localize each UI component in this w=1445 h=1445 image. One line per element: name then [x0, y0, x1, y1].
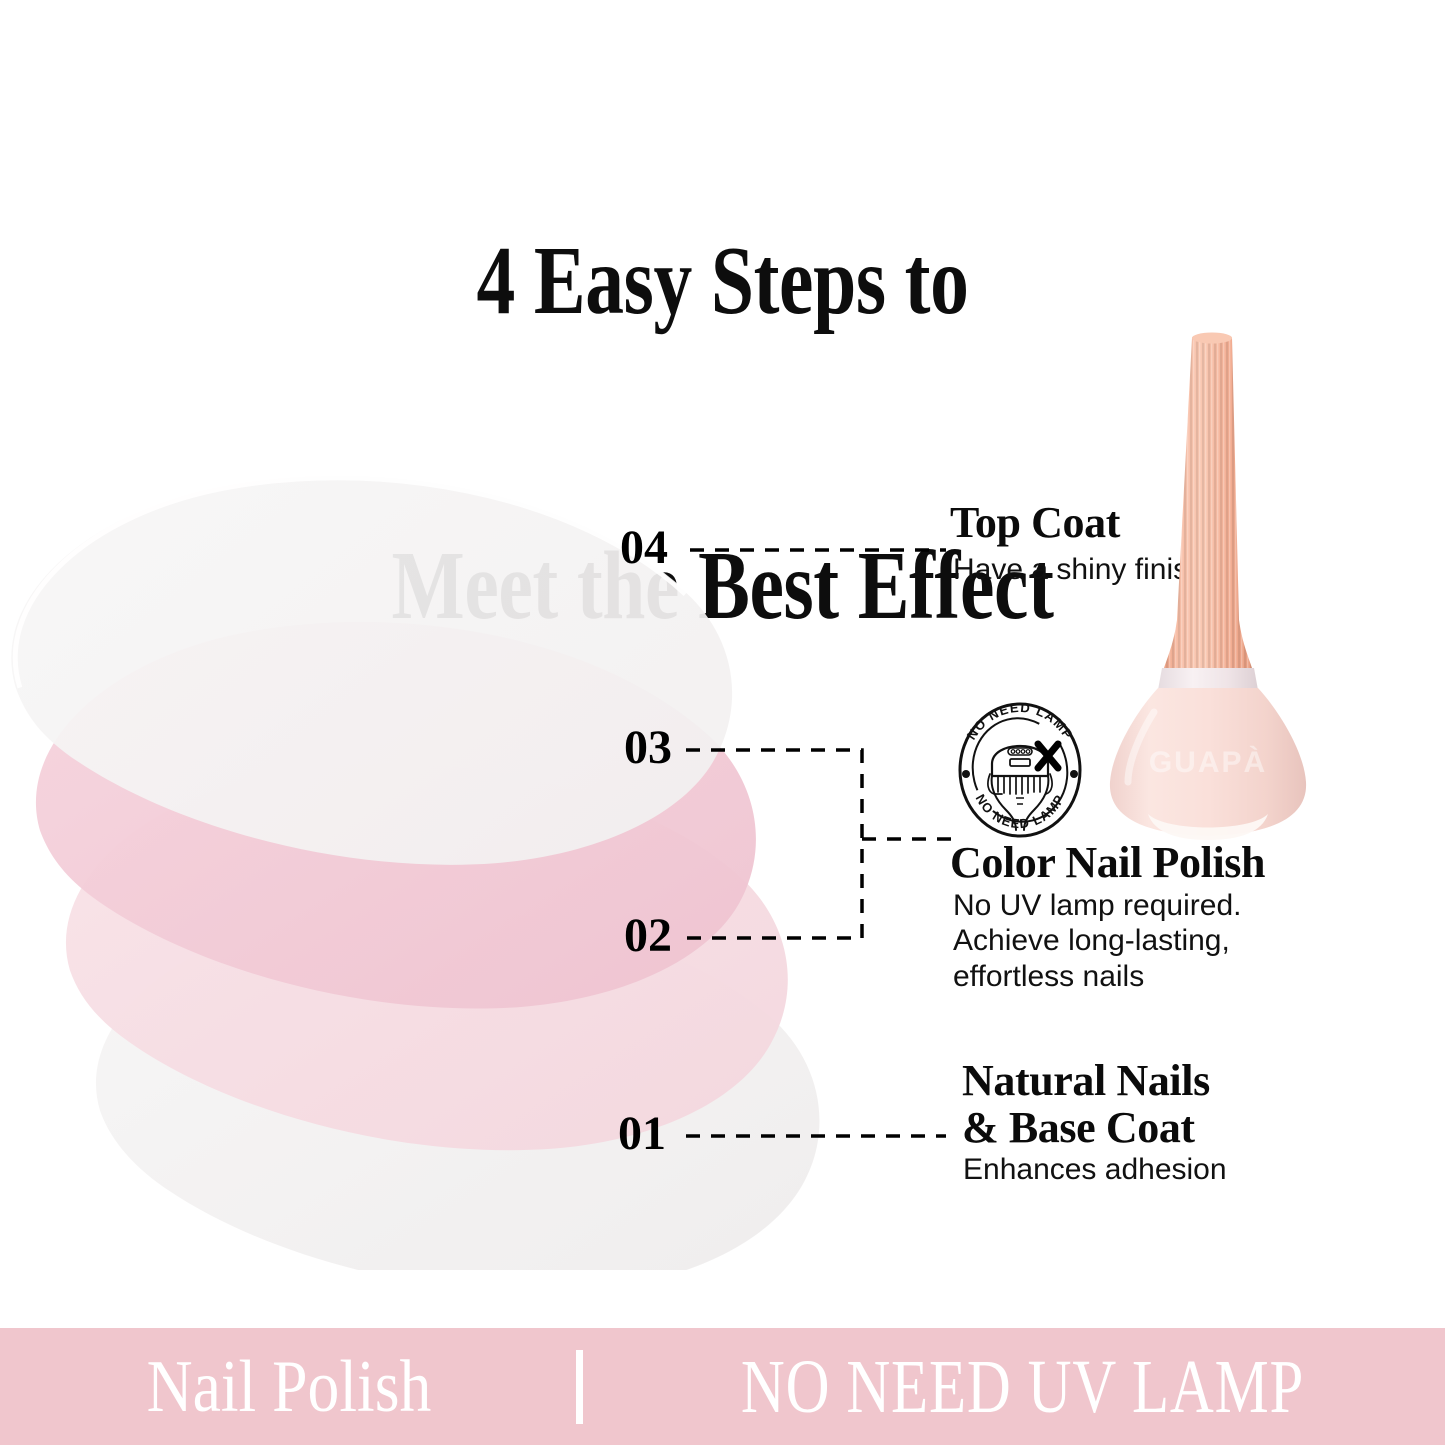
bottle-cap: [1164, 333, 1252, 669]
bottle-embossed-label: GUAPÀ: [1149, 745, 1267, 779]
step-number-03: 03: [624, 724, 672, 772]
infographic-canvas: 4 Easy Steps to Meet the Best Effect: [0, 0, 1445, 1445]
step-number-01: 01: [618, 1110, 666, 1158]
bottom-banner: Nail Polish NO NEED UV LAMP: [0, 1328, 1445, 1445]
bottle-neck: [1158, 668, 1258, 690]
label-heading-top-coat: Top Coat: [950, 500, 1120, 547]
nail-polish-bottle: GUAPÀ: [1100, 320, 1360, 850]
banner-left-text: Nail Polish: [40, 1350, 537, 1424]
label-desc-color-nail-polish: No UV lamp required. Achieve long-lastin…: [953, 888, 1241, 994]
nail-layer-stack: [0, 210, 860, 1270]
no-need-lamp-badge-icon: NO NEED LAMP NO NEED LAMP: [944, 688, 1096, 848]
banner-right-text: NO NEED UV LAMP: [685, 1349, 1361, 1425]
label-heading-natural-nails: Natural Nails & Base Coat: [962, 1058, 1210, 1151]
step-number-04: 04: [620, 524, 668, 572]
label-desc-natural-nails: Enhances adhesion: [963, 1152, 1227, 1187]
step-number-02: 02: [624, 912, 672, 960]
banner-divider: [576, 1350, 583, 1424]
bottle-body: GUAPÀ: [1110, 688, 1306, 840]
